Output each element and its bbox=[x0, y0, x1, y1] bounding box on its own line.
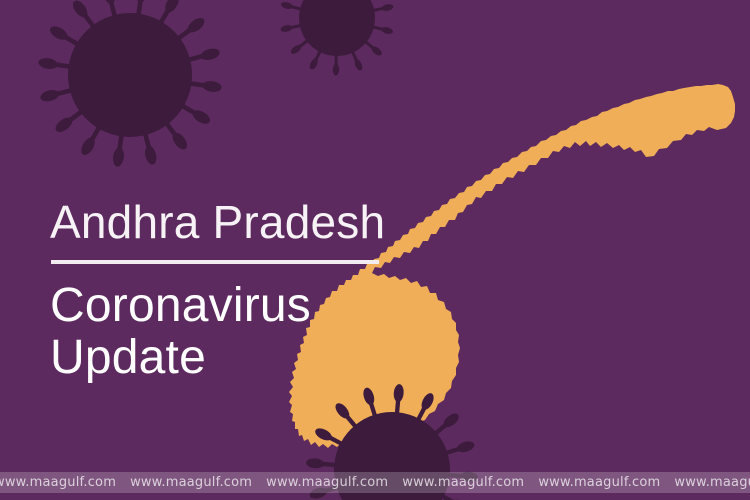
watermark-text: www.maagulf.com bbox=[130, 475, 266, 490]
virus-spike-knob bbox=[393, 384, 404, 403]
watermark-text: www.maagulf.com bbox=[266, 475, 402, 490]
watermark-text: www.maagulf.com bbox=[538, 475, 674, 490]
subtitle: Coronavirus Update bbox=[50, 280, 385, 384]
title-divider bbox=[51, 260, 379, 264]
coronavirus-update-banner: Andhra Pradesh Coronavirus Update www.ma… bbox=[0, 0, 750, 500]
watermark-text: www.maagulf.com bbox=[674, 475, 750, 490]
subtitle-line-1: Coronavirus bbox=[50, 280, 385, 332]
watermark-text: www.maagulf.com bbox=[402, 475, 538, 490]
watermark-text: www.maagulf.com bbox=[0, 475, 130, 490]
watermark-strip: www.maagulf.comwww.maagulf.comwww.maagul… bbox=[0, 472, 750, 493]
virus-spike-knob bbox=[456, 439, 476, 454]
headline-block: Andhra Pradesh Coronavirus Update bbox=[50, 196, 385, 384]
subtitle-line-2: Update bbox=[50, 332, 385, 384]
page-title: Andhra Pradesh bbox=[50, 196, 385, 248]
virus-spike-knob bbox=[361, 386, 376, 406]
virus-spike-knob bbox=[306, 458, 325, 469]
